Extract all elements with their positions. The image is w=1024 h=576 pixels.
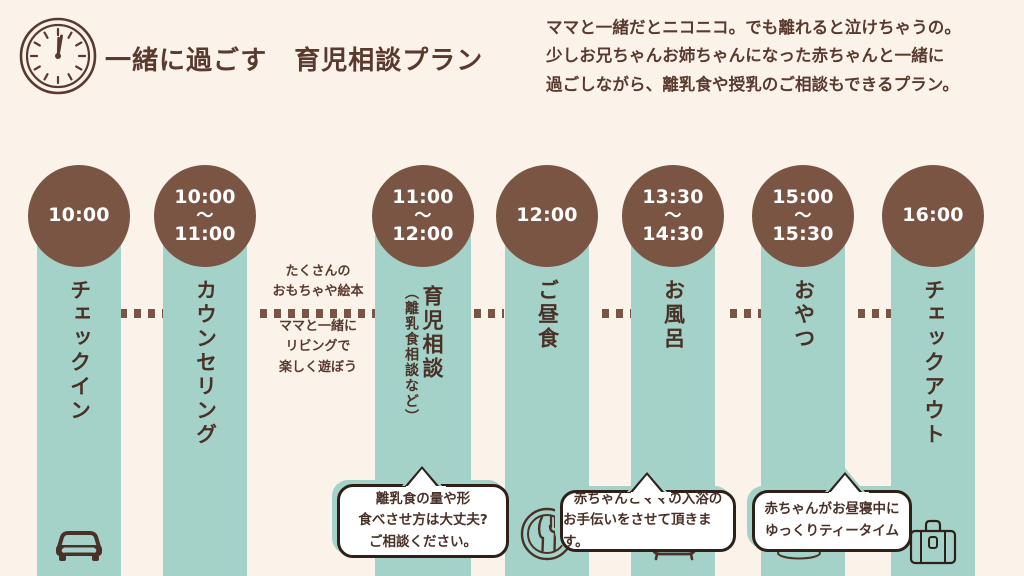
time-separator: 〜 xyxy=(414,208,431,225)
bubble-box: 赤ちゃんとママの入浴の お手伝いをさせて頂きます。 xyxy=(560,490,736,552)
free-text-line: リビングで xyxy=(258,337,378,357)
intro-line-2: 少しお兄ちゃんお姉ちゃんになった赤ちゃんと一緒に xyxy=(546,42,1016,70)
callout-bubble-weaning[interactable]: 離乳食の量や形 食べさせ方は大丈夫? ご相談ください。 xyxy=(337,484,509,558)
timeline-track: 10:00 チェックイン 10:00 xyxy=(0,130,1024,460)
time-badge-snack: 15:00 〜 15:30 xyxy=(752,165,854,267)
intro-line-1: ママと一緒だとニコニコ。でも離れると泣けちゃうの。 xyxy=(546,14,1016,42)
callout-bubble-teatime[interactable]: 赤ちゃんがお昼寝中に ゆっくりティータイム xyxy=(752,490,912,552)
intro-paragraph: ママと一緒だとニコニコ。でも離れると泣けちゃうの。 少しお兄ちゃんお姉ちゃんにな… xyxy=(546,14,1016,99)
time-line: 10:00 xyxy=(174,188,235,208)
time-line: 15:00 xyxy=(772,188,833,208)
time-line: 15:30 xyxy=(772,225,833,245)
time-line: 12:00 xyxy=(392,225,453,245)
car-icon xyxy=(51,523,107,569)
connector-dots-5 xyxy=(730,309,762,318)
connector-dots-6 xyxy=(858,309,892,318)
time-badge-counseling: 10:00 〜 11:00 xyxy=(154,165,256,267)
time-badge-checkin: 10:00 xyxy=(28,165,130,267)
clock-icon xyxy=(18,16,98,96)
free-play-text: たくさんの おもちゃや絵本 ママと一緒に リビングで 楽しく遊ぼう xyxy=(258,262,378,378)
time-line: 11:00 xyxy=(174,225,235,245)
bubble-box: 離乳食の量や形 食べさせ方は大丈夫? ご相談ください。 xyxy=(337,484,509,558)
connector-dots-3 xyxy=(474,309,504,318)
column-bar xyxy=(163,235,247,576)
time-separator: 〜 xyxy=(794,208,811,225)
free-text-line: おもちゃや絵本 xyxy=(258,282,378,302)
callout-line: ゆっくりティータイム xyxy=(765,521,899,543)
time-line: 11:00 xyxy=(392,188,453,208)
time-line: 12:00 xyxy=(516,206,577,226)
tail-join-mask xyxy=(406,486,446,492)
callout-line: ご相談ください。 xyxy=(369,532,477,554)
time-separator: 〜 xyxy=(664,208,681,225)
timeline-column-checkin[interactable]: 10:00 チェックイン xyxy=(37,235,121,576)
time-line: 16:00 xyxy=(902,206,963,226)
time-badge-bath: 13:30 〜 14:30 xyxy=(622,165,724,267)
time-badge-lunch: 12:00 xyxy=(496,165,598,267)
time-badge-consult: 11:00 〜 12:00 xyxy=(372,165,474,267)
infographic-root: 一緒に過ごす 育児相談プラン ママと一緒だとニコニコ。でも離れると泣けちゃうの。… xyxy=(0,0,1024,576)
time-line: 14:30 xyxy=(642,225,703,245)
time-separator: 〜 xyxy=(196,208,213,225)
callout-line: 食べさせ方は大丈夫? xyxy=(358,510,487,532)
connector-dots-4 xyxy=(602,309,632,318)
time-line: 13:30 xyxy=(642,188,703,208)
page-title: 一緒に過ごす 育児相談プラン xyxy=(105,40,483,77)
callout-line: お手伝いをさせて頂きます。 xyxy=(563,510,733,553)
callout-line: 赤ちゃんがお昼寝中に xyxy=(765,499,900,521)
callout-bubble-bath[interactable]: 赤ちゃんとママの入浴の お手伝いをさせて頂きます。 xyxy=(560,490,736,552)
free-text-line: たくさんの xyxy=(258,262,378,282)
free-text-line: 楽しく遊ぼう xyxy=(258,358,378,378)
bubble-box: 赤ちゃんがお昼寝中に ゆっくりティータイム xyxy=(752,490,912,552)
free-text-line: ママと一緒に xyxy=(258,317,378,337)
tail-join-mask xyxy=(829,492,869,498)
connector-dots-1 xyxy=(120,309,164,318)
time-badge-checkout: 16:00 xyxy=(882,165,984,267)
suitcase-icon xyxy=(905,515,961,571)
time-line: 10:00 xyxy=(48,206,109,226)
tail-join-mask xyxy=(631,492,671,498)
spacer xyxy=(258,302,378,317)
intro-line-3: 過ごしながら、離乳食や授乳のご相談もできるプラン。 xyxy=(546,71,1016,99)
timeline-column-counseling[interactable]: 10:00 〜 11:00 カウンセリング xyxy=(163,235,247,576)
